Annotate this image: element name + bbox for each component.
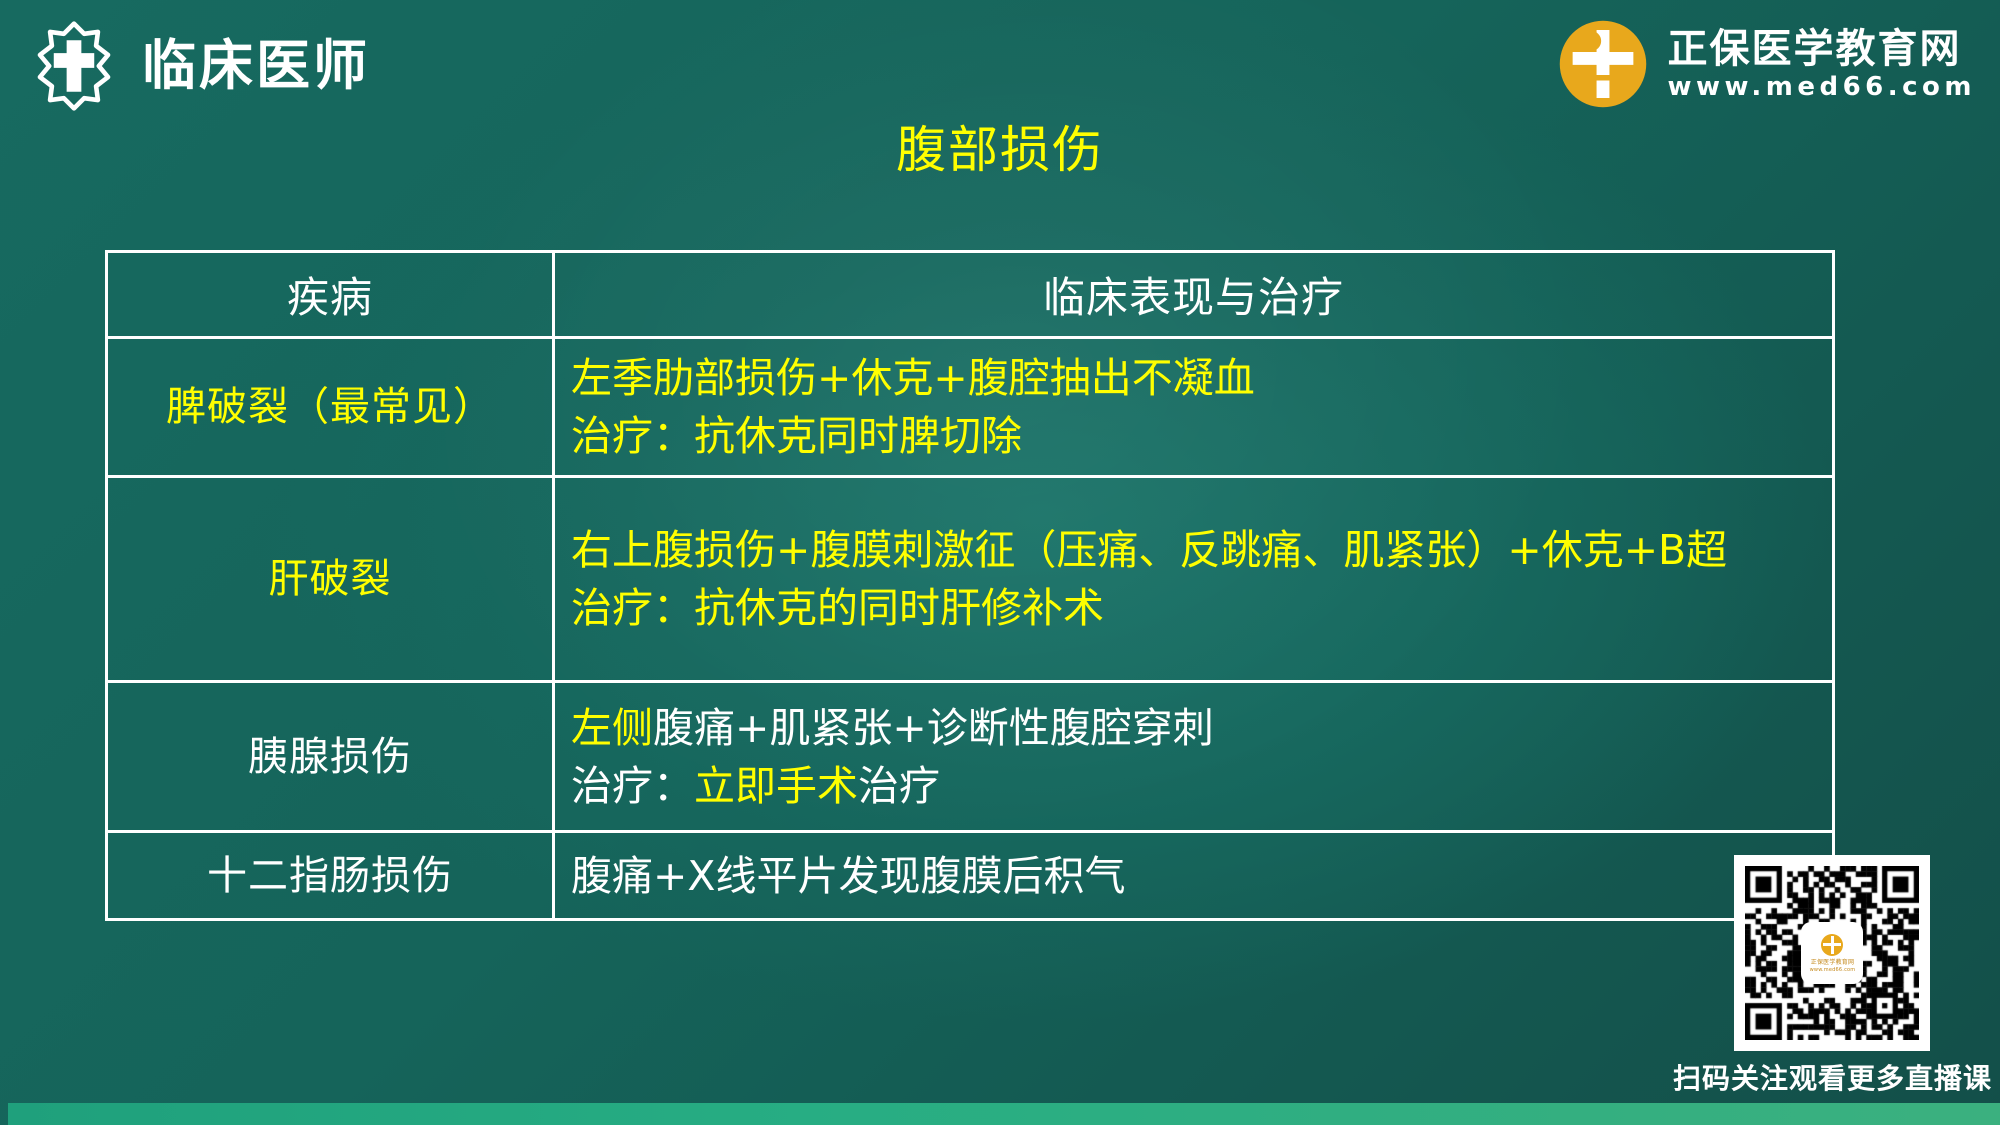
bottom-accent-bar: [8, 1103, 2000, 1125]
manifestation-line: 腹痛+X线平片发现腹膜后积气: [571, 847, 1816, 905]
text-segment: 治疗：抗休克同时脾切除: [571, 412, 1022, 460]
text-segment: 治疗：抗休克的同时肝修补术: [571, 584, 1104, 632]
hospital-cross-icon: [28, 20, 120, 112]
manifestation-line: 治疗：立即手术治疗: [571, 757, 1816, 815]
qr-block: 正保医学教育网 www.med66.com 扫码关注观看更多直播课: [1673, 855, 1992, 1097]
table-header-row: 疾病 临床表现与治疗: [107, 252, 1834, 338]
text-segment: 治疗：: [571, 762, 694, 810]
cell-disease: 胰腺损伤: [107, 682, 554, 832]
manifestation-line: 右上腹损伤+腹膜刺激征（压痛、反跳痛、肌紧张）+休克+B超: [571, 521, 1816, 579]
qr-logo-cross-icon: [1821, 934, 1843, 956]
manifestation-line: 治疗：抗休克同时脾切除: [571, 407, 1816, 465]
cell-disease: 脾破裂（最常见）: [107, 338, 554, 477]
table-row: 胰腺损伤左侧腹痛+肌紧张+诊断性腹腔穿刺治疗：立即手术治疗: [107, 682, 1834, 832]
partner-logo: 正保医学教育网 www.med66.com: [1557, 18, 1976, 110]
column-header-disease: 疾病: [107, 252, 554, 338]
manifestation-line: 左侧腹痛+肌紧张+诊断性腹腔穿刺: [571, 699, 1816, 757]
qr-caption: 扫码关注观看更多直播课: [1673, 1057, 1992, 1097]
table-row: 肝破裂右上腹损伤+腹膜刺激征（压痛、反跳痛、肌紧张）+休克+B超治疗：抗休克的同…: [107, 477, 1834, 682]
qr-center-logo-icon: 正保医学教育网 www.med66.com: [1801, 922, 1863, 984]
table-row: 十二指肠损伤腹痛+X线平片发现腹膜后积气: [107, 832, 1834, 920]
manifestation-line: 治疗：抗休克的同时肝修补术: [571, 579, 1816, 637]
text-segment: 腹痛+X线平片发现腹膜后积气: [571, 852, 1125, 900]
content-table: 疾病 临床表现与治疗 脾破裂（最常见）左季肋部损伤+休克+腹腔抽出不凝血治疗：抗…: [105, 250, 1835, 921]
table-body: 脾破裂（最常见）左季肋部损伤+休克+腹腔抽出不凝血治疗：抗休克同时脾切除肝破裂右…: [107, 338, 1834, 920]
partner-name: 正保医学教育网: [1667, 28, 1976, 70]
cell-disease: 十二指肠损伤: [107, 832, 554, 920]
text-segment: 左侧: [571, 704, 653, 752]
cell-manifestation: 腹痛+X线平片发现腹膜后积气: [554, 832, 1834, 920]
brand-title: 临床医师: [142, 39, 370, 93]
text-segment: 右上腹损伤+腹膜刺激征（压痛、反跳痛、肌紧张）+休克+B超: [571, 526, 1727, 574]
cell-manifestation: 右上腹损伤+腹膜刺激征（压痛、反跳痛、肌紧张）+休克+B超治疗：抗休克的同时肝修…: [554, 477, 1834, 682]
page-title: 腹部损伤: [0, 110, 2000, 182]
brand-header: 临床医师: [28, 20, 370, 112]
cell-manifestation: 左侧腹痛+肌紧张+诊断性腹腔穿刺治疗：立即手术治疗: [554, 682, 1834, 832]
qr-code[interactable]: 正保医学教育网 www.med66.com: [1734, 855, 1930, 1051]
text-segment: 腹痛+肌紧张+诊断性腹腔穿刺: [653, 704, 1214, 752]
column-header-manifestation: 临床表现与治疗: [554, 252, 1834, 338]
text-segment: 治疗: [858, 762, 940, 810]
content-table-wrapper: 疾病 临床表现与治疗 脾破裂（最常见）左季肋部损伤+休克+腹腔抽出不凝血治疗：抗…: [105, 250, 1835, 921]
qr-logo-line1: 正保医学教育网: [1811, 957, 1854, 966]
cell-manifestation: 左季肋部损伤+休克+腹腔抽出不凝血治疗：抗休克同时脾切除: [554, 338, 1834, 477]
manifestation-line: 左季肋部损伤+休克+腹腔抽出不凝血: [571, 349, 1816, 407]
table-row: 脾破裂（最常见）左季肋部损伤+休克+腹腔抽出不凝血治疗：抗休克同时脾切除: [107, 338, 1834, 477]
cell-disease: 肝破裂: [107, 477, 554, 682]
text-segment: 左季肋部损伤+休克+腹腔抽出不凝血: [571, 354, 1255, 402]
qr-logo-line2: www.med66.com: [1810, 967, 1856, 973]
partner-url: www.med66.com: [1667, 74, 1976, 100]
med66-cross-badge-icon: [1557, 18, 1649, 110]
text-segment: 立即手术: [694, 762, 858, 810]
